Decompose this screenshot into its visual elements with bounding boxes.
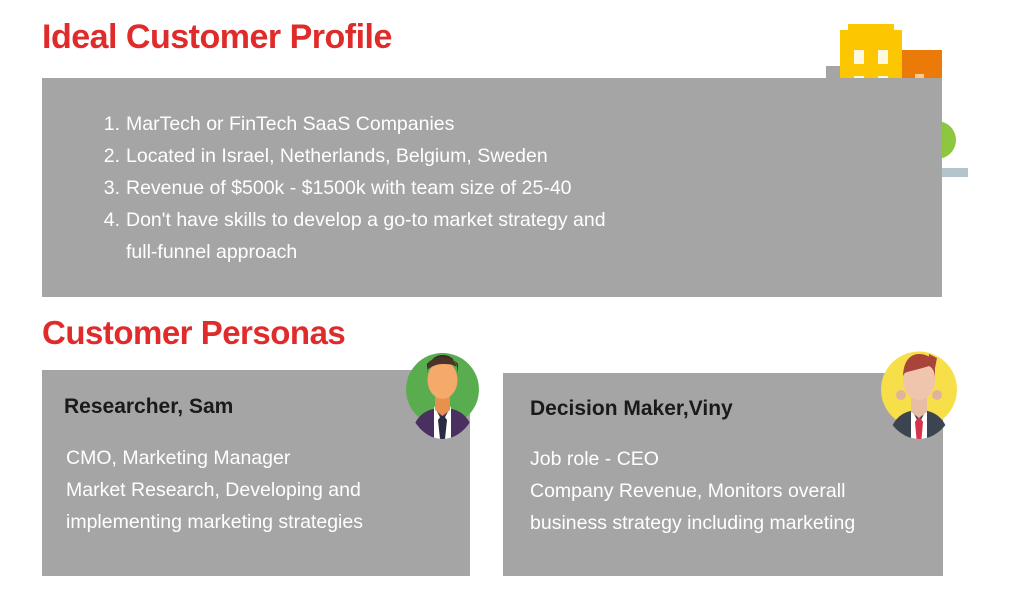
persona-detail-line: Company Revenue, Monitors overall (530, 475, 855, 507)
slide-canvas: Ideal Customer Profile MarTech or FinTec… (0, 0, 1024, 609)
list-item: Revenue of $500k - $1500k with team size… (42, 172, 942, 204)
persona-title: Researcher, Sam (64, 395, 233, 419)
icp-list: MarTech or FinTech SaaS Companies Locate… (42, 78, 942, 268)
page-title-customer-personas: Customer Personas (42, 316, 345, 349)
icp-item-line-1: MarTech or FinTech SaaS Companies (126, 108, 942, 140)
persona-detail-line: Market Research, Developing and (66, 474, 363, 506)
persona-details: CMO, Marketing Manager Market Research, … (66, 442, 363, 538)
persona-detail-line: implementing marketing strategies (66, 506, 363, 538)
persona-detail-line: CMO, Marketing Manager (66, 442, 363, 474)
icp-item-line-1: Don't have skills to develop a go-to mar… (126, 204, 942, 236)
persona-name-label: Sam (189, 395, 233, 418)
persona-title: Decision Maker,Viny (530, 397, 733, 421)
icp-item-line-2: full-funnel approach (126, 236, 942, 268)
page-title-ideal-customer-profile: Ideal Customer Profile (42, 20, 392, 54)
list-item: MarTech or FinTech SaaS Companies (42, 108, 942, 140)
persona-detail-line: business strategy including marketing (530, 507, 855, 539)
persona-card-researcher: Researcher, Sam CMO, Marketing Manager M… (42, 370, 470, 576)
icp-item-line-1: Located in Israel, Netherlands, Belgium,… (126, 140, 942, 172)
list-item: Don't have skills to develop a go-to mar… (42, 204, 942, 268)
icp-item-line-1: Revenue of $500k - $1500k with team size… (126, 172, 942, 204)
persona-detail-line: Job role - CEO (530, 443, 855, 475)
persona-role-label: Decision Maker, (530, 397, 689, 420)
persona-name-label: Viny (689, 397, 733, 420)
ideal-customer-profile-panel: MarTech or FinTech SaaS Companies Locate… (42, 78, 942, 297)
avatar-decision-maker-icon (881, 340, 957, 439)
avatar-researcher-icon (406, 340, 479, 439)
persona-details: Job role - CEO Company Revenue, Monitors… (530, 443, 855, 539)
list-item: Located in Israel, Netherlands, Belgium,… (42, 140, 942, 172)
persona-role-label: Researcher, (64, 395, 189, 418)
persona-card-decision-maker: Decision Maker,Viny Job role - CEO Compa… (503, 373, 943, 576)
